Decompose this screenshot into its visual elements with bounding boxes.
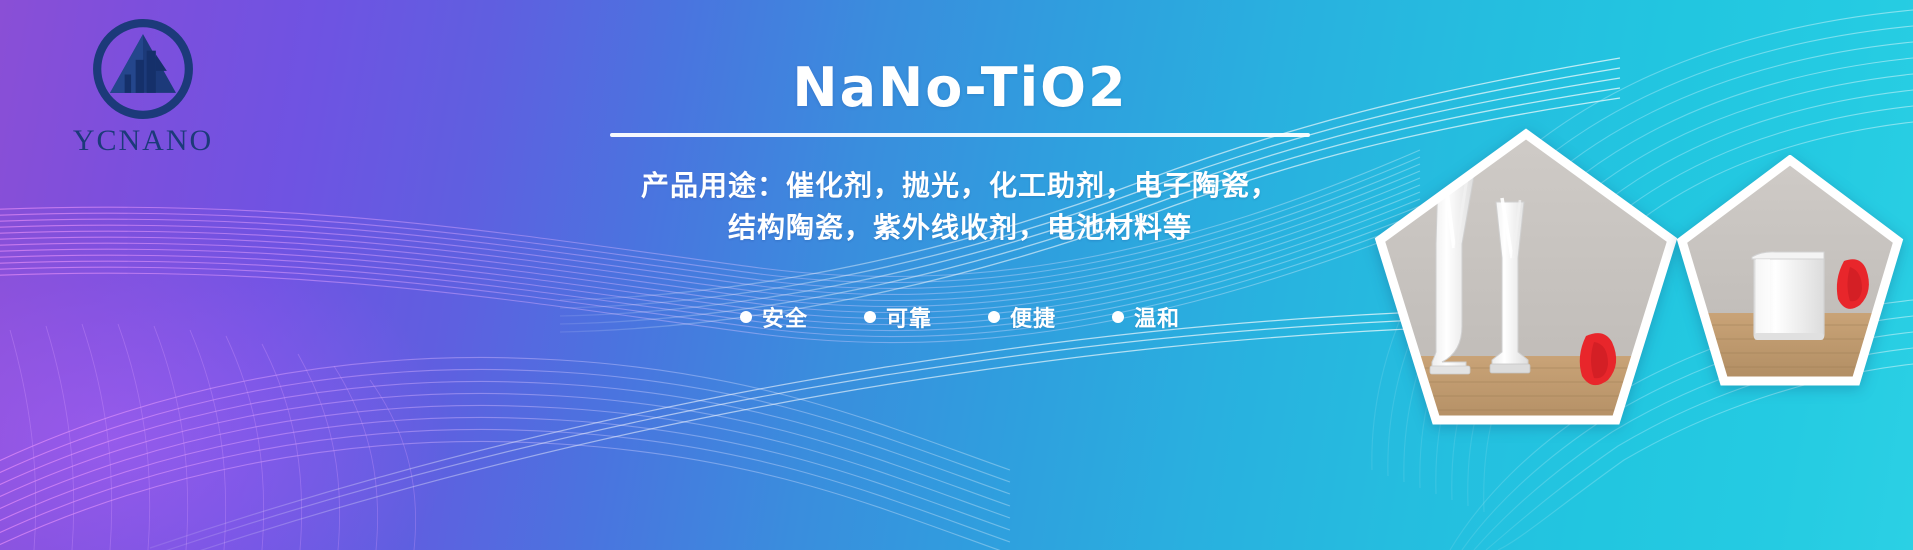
usage-line-2: 结构陶瓷，紫外线收剂，电池材料等	[480, 207, 1440, 249]
feature-label: 便捷	[1010, 301, 1056, 333]
product-usage-text: 产品用途：催化剂，抛光，化工助剂，电子陶瓷， 结构陶瓷，紫外线收剂，电池材料等	[480, 165, 1440, 249]
feature-label: 温和	[1134, 301, 1180, 333]
feature-list: 安全 可靠 便捷 温和	[480, 301, 1440, 333]
feature-item-convenient: 便捷	[988, 301, 1056, 333]
product-banner: YCNANO NaNo-TiO2 产品用途：催化剂，抛光，化工助剂，电子陶瓷， …	[0, 0, 1913, 550]
bullet-dot-icon	[1112, 311, 1124, 323]
bullet-dot-icon	[988, 311, 1000, 323]
feature-label: 可靠	[886, 301, 932, 333]
feature-label: 安全	[762, 301, 808, 333]
usage-line-1: 产品用途：催化剂，抛光，化工助剂，电子陶瓷，	[480, 165, 1440, 207]
hero-copy: NaNo-TiO2 产品用途：催化剂，抛光，化工助剂，电子陶瓷， 结构陶瓷，紫外…	[480, 60, 1440, 333]
brand-wordmark: YCNANO	[48, 126, 238, 156]
bullet-dot-icon	[740, 311, 752, 323]
page-title: NaNo-TiO2	[480, 60, 1440, 117]
product-photo-beaker	[1676, 155, 1904, 392]
bullet-dot-icon	[864, 311, 876, 323]
feature-item-safe: 安全	[740, 301, 808, 333]
brand-logo: YCNANO	[48, 14, 238, 156]
feature-item-mild: 温和	[1112, 301, 1180, 333]
title-divider	[610, 133, 1310, 137]
product-photo-vases	[1372, 128, 1680, 434]
ycnano-circle-triangle-logo	[88, 14, 198, 124]
feature-item-reliable: 可靠	[864, 301, 932, 333]
